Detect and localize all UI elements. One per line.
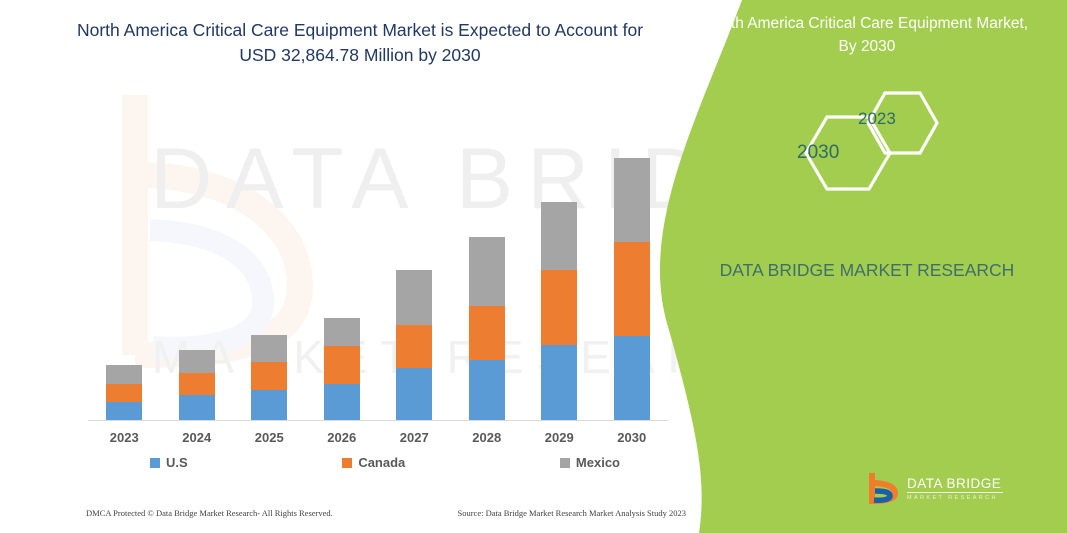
legend-swatch-mexico xyxy=(560,458,570,468)
bar-segment-mexico xyxy=(469,237,505,306)
bar-segment-mexico xyxy=(541,202,577,270)
legend-item-mexico[interactable]: Mexico xyxy=(560,455,620,470)
bar-segment-canada xyxy=(469,306,505,360)
bar-segment-us xyxy=(106,402,142,420)
logo-title: DATA BRIDGE xyxy=(907,477,1003,492)
logo: DATA BRIDGE MARKET RESEARCH xyxy=(865,472,1003,506)
bar-group xyxy=(88,140,668,420)
bar-column-2024 xyxy=(161,140,233,420)
chart-title: North America Critical Care Equipment Ma… xyxy=(60,18,660,69)
legend-label: Mexico xyxy=(576,455,620,470)
logo-text: DATA BRIDGE MARKET RESEARCH xyxy=(907,477,1003,502)
footer-source: Source: Data Bridge Market Research Mark… xyxy=(457,508,686,518)
bar-column-2026 xyxy=(306,140,378,420)
x-axis-line xyxy=(88,420,668,421)
brand-name: DATA BRIDGE MARKET RESEARCH xyxy=(707,258,1027,283)
hexagon-2023-label: 2023 xyxy=(858,109,896,129)
x-axis-label-2029: 2029 xyxy=(523,430,595,445)
green-panel-title: North America Critical Care Equipment Ma… xyxy=(702,12,1032,59)
bar-segment-us xyxy=(396,368,432,420)
bar-segment-us xyxy=(614,336,650,420)
bar-stack xyxy=(396,270,432,420)
bar-segment-canada xyxy=(179,373,215,395)
legend-item-canada[interactable]: Canada xyxy=(342,455,405,470)
bar-segment-mexico xyxy=(251,335,287,362)
bar-segment-canada xyxy=(396,325,432,368)
bar-segment-us xyxy=(179,395,215,420)
bar-stack xyxy=(541,202,577,420)
hexagon-2030-label: 2030 xyxy=(797,142,839,164)
bar-segment-canada xyxy=(324,346,360,384)
bar-segment-mexico xyxy=(614,158,650,242)
x-axis-label-2027: 2027 xyxy=(378,430,450,445)
bar-column-2027 xyxy=(378,140,450,420)
bar-column-2025 xyxy=(233,140,305,420)
bar-segment-canada xyxy=(541,270,577,345)
bar-segment-mexico xyxy=(179,350,215,373)
bar-segment-mexico xyxy=(396,270,432,325)
bar-column-2030 xyxy=(596,140,668,420)
legend-swatch-canada xyxy=(342,458,352,468)
bar-stack xyxy=(106,365,142,420)
x-axis-label-2023: 2023 xyxy=(88,430,160,445)
bar-segment-canada xyxy=(614,242,650,336)
x-axis-label-2030: 2030 xyxy=(596,430,668,445)
bar-segment-us xyxy=(469,360,505,420)
bar-segment-mexico xyxy=(106,365,142,384)
footer-copyright: DMCA Protected © Data Bridge Market Rese… xyxy=(86,508,333,518)
legend-label: U.S xyxy=(166,455,188,470)
bar-stack xyxy=(614,158,650,420)
bar-segment-us xyxy=(251,390,287,420)
hexagon-shapes-icon xyxy=(765,85,955,210)
x-axis-label-2024: 2024 xyxy=(161,430,233,445)
chart-panel: North America Critical Care Equipment Ma… xyxy=(0,0,740,533)
x-axis-label-2028: 2028 xyxy=(451,430,523,445)
bar-column-2029 xyxy=(523,140,595,420)
footer: DMCA Protected © Data Bridge Market Rese… xyxy=(86,508,686,518)
logo-subtitle: MARKET RESEARCH xyxy=(907,495,1003,501)
bar-column-2028 xyxy=(451,140,523,420)
bar-column-2023 xyxy=(88,140,160,420)
bar-segment-us xyxy=(324,384,360,420)
bar-segment-us xyxy=(541,345,577,420)
legend-item-us[interactable]: U.S xyxy=(150,455,188,470)
bar-stack xyxy=(469,237,505,420)
data-bridge-b-logo-icon xyxy=(865,472,899,506)
legend-label: Canada xyxy=(358,455,405,470)
chart-legend: U.SCanadaMexico xyxy=(150,455,620,470)
bar-segment-canada xyxy=(106,384,142,402)
bar-stack xyxy=(251,335,287,420)
x-axis-label-2025: 2025 xyxy=(233,430,305,445)
hexagon-group: 2030 2023 xyxy=(765,85,955,215)
legend-swatch-us xyxy=(150,458,160,468)
x-axis-labels: 20232024202520262027202820292030 xyxy=(88,430,668,445)
logo-divider xyxy=(907,492,1003,493)
bar-stack xyxy=(324,318,360,420)
chart-plot-area xyxy=(88,140,668,421)
bar-segment-canada xyxy=(251,362,287,390)
bar-stack xyxy=(179,350,215,420)
bar-segment-mexico xyxy=(324,318,360,346)
x-axis-label-2026: 2026 xyxy=(306,430,378,445)
